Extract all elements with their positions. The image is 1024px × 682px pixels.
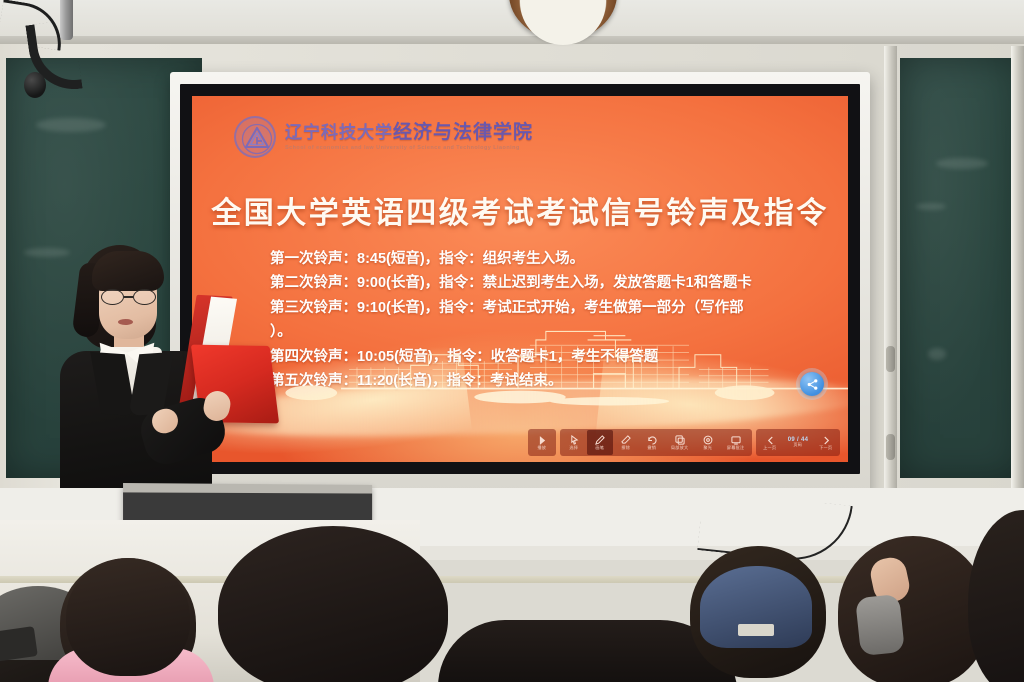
toolbar-pen-button[interactable]: 画笔: [587, 430, 613, 455]
next-page-label: 下一页: [819, 446, 832, 450]
student-long-hair-center: [218, 526, 448, 682]
eraser-icon: [621, 435, 631, 446]
student-right-edge: [968, 510, 1024, 682]
toolbar-eraser-button[interactable]: 擦除: [613, 430, 639, 455]
university-name-en: School of economics and law University o…: [285, 146, 533, 152]
toolbar-group-tools: 选择 画笔 擦除: [560, 429, 752, 456]
pen-icon: [595, 435, 605, 446]
sleeve: [855, 594, 905, 656]
navy-cap-strap: [738, 624, 774, 636]
toolbar-zoom-label: 局部放大: [671, 446, 688, 450]
share-icon[interactable]: [800, 372, 824, 396]
toolbar-group-play: 播放: [528, 429, 556, 456]
board-slide-rail-right: [1011, 46, 1024, 488]
page-counter-label: 页码: [794, 444, 803, 448]
student-pink-coat-hair-front: [66, 558, 190, 676]
university-name-cn: 辽宁科技大学: [285, 123, 393, 142]
toolbar-cursor-button[interactable]: 选择: [561, 430, 587, 455]
presenter-hair-front: [92, 251, 164, 291]
eyeglasses-icon: [100, 289, 158, 305]
chevron-left-icon: [767, 435, 774, 446]
toolbar-annotate-label: 屏幕批注: [727, 446, 744, 450]
mic-head: [24, 72, 46, 98]
undo-icon: [647, 435, 657, 446]
board-slide-rail-left: [884, 46, 897, 488]
slide-line-1: 第一次铃声：8:45(短音)，指令：组织考生入场。: [270, 248, 820, 271]
audience: [0, 500, 1024, 682]
toolbar-play-button[interactable]: 播放: [529, 430, 555, 455]
toolbar-annotate-button[interactable]: 屏幕批注: [721, 430, 751, 455]
toolbar-spotlight-button[interactable]: 聚光: [695, 430, 721, 455]
toolbar-group-pager: 上一页 09 / 44 页码 下一页: [756, 429, 840, 456]
presentation-slide[interactable]: 辽宁科技大学经济与法律学院 School of economics and la…: [192, 96, 848, 462]
toolbar-eraser-label: 擦除: [622, 446, 631, 450]
presentation-toolbar[interactable]: 播放 选择: [528, 429, 840, 456]
toolbar-cursor-label: 选择: [570, 446, 579, 450]
toolbar-play-label: 播放: [538, 446, 547, 450]
next-page-button[interactable]: 下一页: [813, 430, 839, 455]
play-icon: [539, 435, 546, 446]
prev-page-label: 上一页: [763, 446, 776, 450]
copy-icon: [675, 435, 685, 446]
display-bezel-inner: 辽宁科技大学经济与法律学院 School of economics and la…: [180, 84, 860, 474]
cursor-icon: [570, 435, 579, 446]
university-seal-icon: [234, 116, 276, 158]
chevron-right-icon: [823, 435, 830, 446]
interactive-flat-panel[interactable]: 辽宁科技大学经济与法律学院 School of economics and la…: [170, 72, 870, 496]
slide-logo-block: 辽宁科技大学经济与法律学院 School of economics and la…: [234, 116, 533, 158]
presenter-mouth: [118, 319, 133, 325]
toolbar-undo-button[interactable]: 撤销: [639, 430, 665, 455]
toolbar-spotlight-label: 聚光: [704, 446, 713, 450]
prev-page-button[interactable]: 上一页: [757, 430, 783, 455]
toolbar-undo-label: 撤销: [648, 446, 657, 450]
page-counter[interactable]: 09 / 44 页码: [783, 430, 813, 455]
slide-title: 全国大学英语四级考试考试信号铃声及指令: [192, 188, 848, 232]
lecture-hall-photo: 辽宁科技大学经济与法律学院 School of economics and la…: [0, 0, 1024, 682]
spotlight-icon: [703, 435, 713, 446]
chalkboard-right-panel: [900, 58, 1020, 478]
slide-line-2: 第二次铃声：9:00(长音)，指令：禁止迟到考生入场，发放答题卡1和答题卡: [270, 272, 820, 295]
college-name-cn: 经济与法律学院: [393, 122, 533, 143]
toolbar-zoom-button[interactable]: 局部放大: [665, 430, 695, 455]
screenshot-icon: [731, 435, 741, 446]
presenter-woman: [56, 243, 246, 515]
toolbar-pen-label: 画笔: [596, 446, 605, 450]
slide-line-3: 第三次铃声：9:10(长音)，指令：考试正式开始，考生做第一部分（写作部: [270, 297, 820, 320]
ceiling-microphone: [0, 0, 180, 110]
